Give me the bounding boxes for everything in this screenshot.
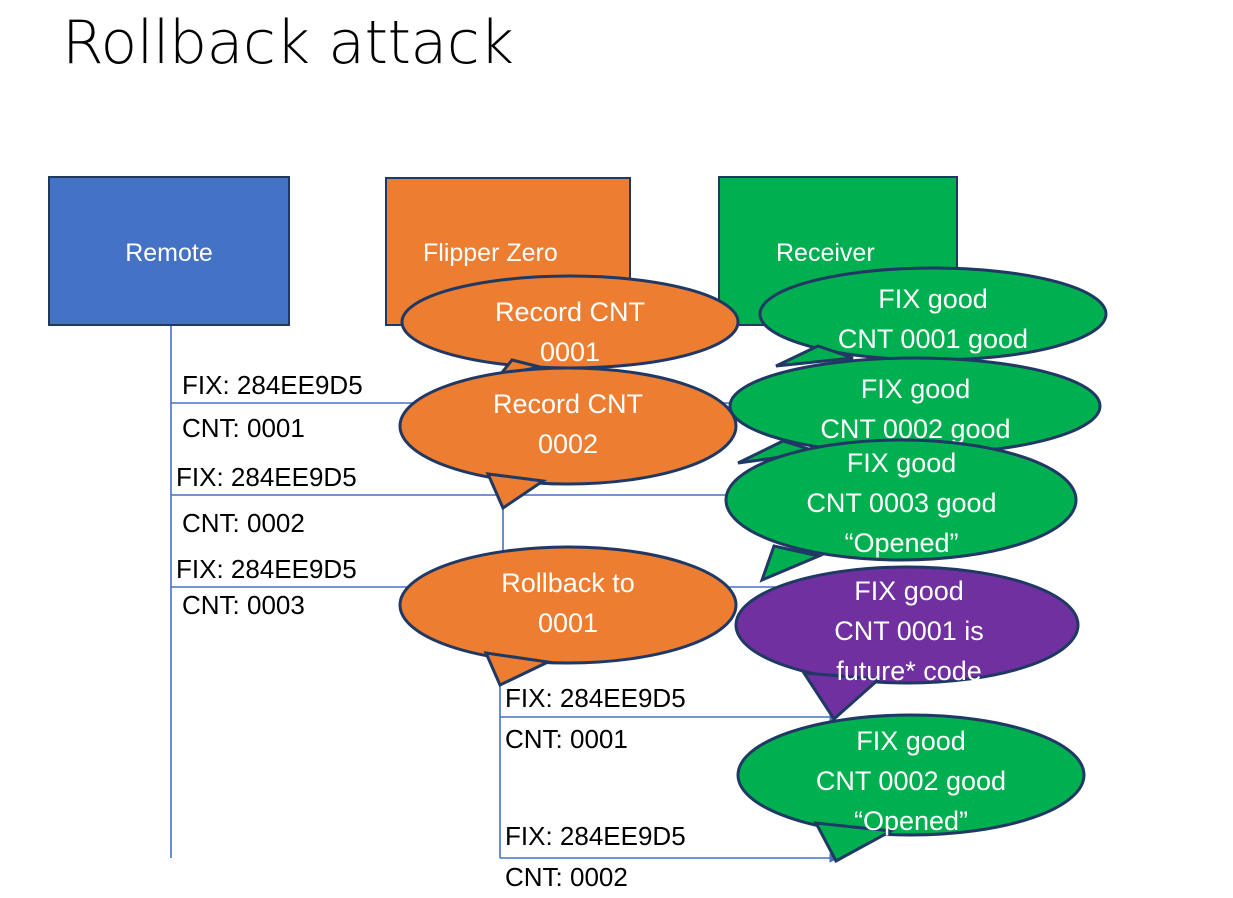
callout-flipper-record-0001[interactable]: Record CNT 0001 [400, 274, 740, 376]
message-label-m5-fix: FIX: 284EE9D5 [505, 821, 686, 852]
callout-flipper-record-0002[interactable]: Record CNT 0002 [398, 366, 738, 511]
actor-label-flipper-zero: Flipper Zero [423, 239, 558, 268]
message-label-m2-cnt: CNT: 0002 [182, 508, 305, 539]
callout-flipper-rollback-0001[interactable]: Rollback to 0001 [398, 545, 738, 690]
slide-canvas: Rollback attack Remote Flipper Zero Rece… [0, 0, 1233, 898]
callout-receiver-reject-future[interactable]: FIX good CNT 0001 is future* code [734, 563, 1084, 723]
actor-box-remote[interactable]: Remote [48, 176, 290, 326]
message-label-m5-cnt: CNT: 0002 [505, 862, 628, 893]
callout-receiver-ack-0001[interactable]: FIX good CNT 0001 good [758, 266, 1108, 370]
message-label-m1-fix: FIX: 284EE9D5 [182, 370, 363, 401]
callout-receiver-ack-0002-opened[interactable]: FIX good CNT 0002 good “Opened” [736, 713, 1086, 863]
callout-receiver-ack-0003-opened[interactable]: FIX good CNT 0003 good “Opened” [724, 438, 1079, 583]
message-label-m3-fix: FIX: 284EE9D5 [176, 554, 357, 585]
page-title: Rollback attack [62, 8, 514, 78]
actor-label-receiver: Receiver [776, 239, 875, 268]
message-label-m1-cnt: CNT: 0001 [182, 413, 305, 444]
message-label-m3-cnt: CNT: 0003 [182, 590, 305, 621]
message-label-m4-cnt: CNT: 0001 [505, 724, 628, 755]
actor-label-remote: Remote [125, 239, 213, 268]
message-label-m2-fix: FIX: 284EE9D5 [176, 462, 357, 493]
